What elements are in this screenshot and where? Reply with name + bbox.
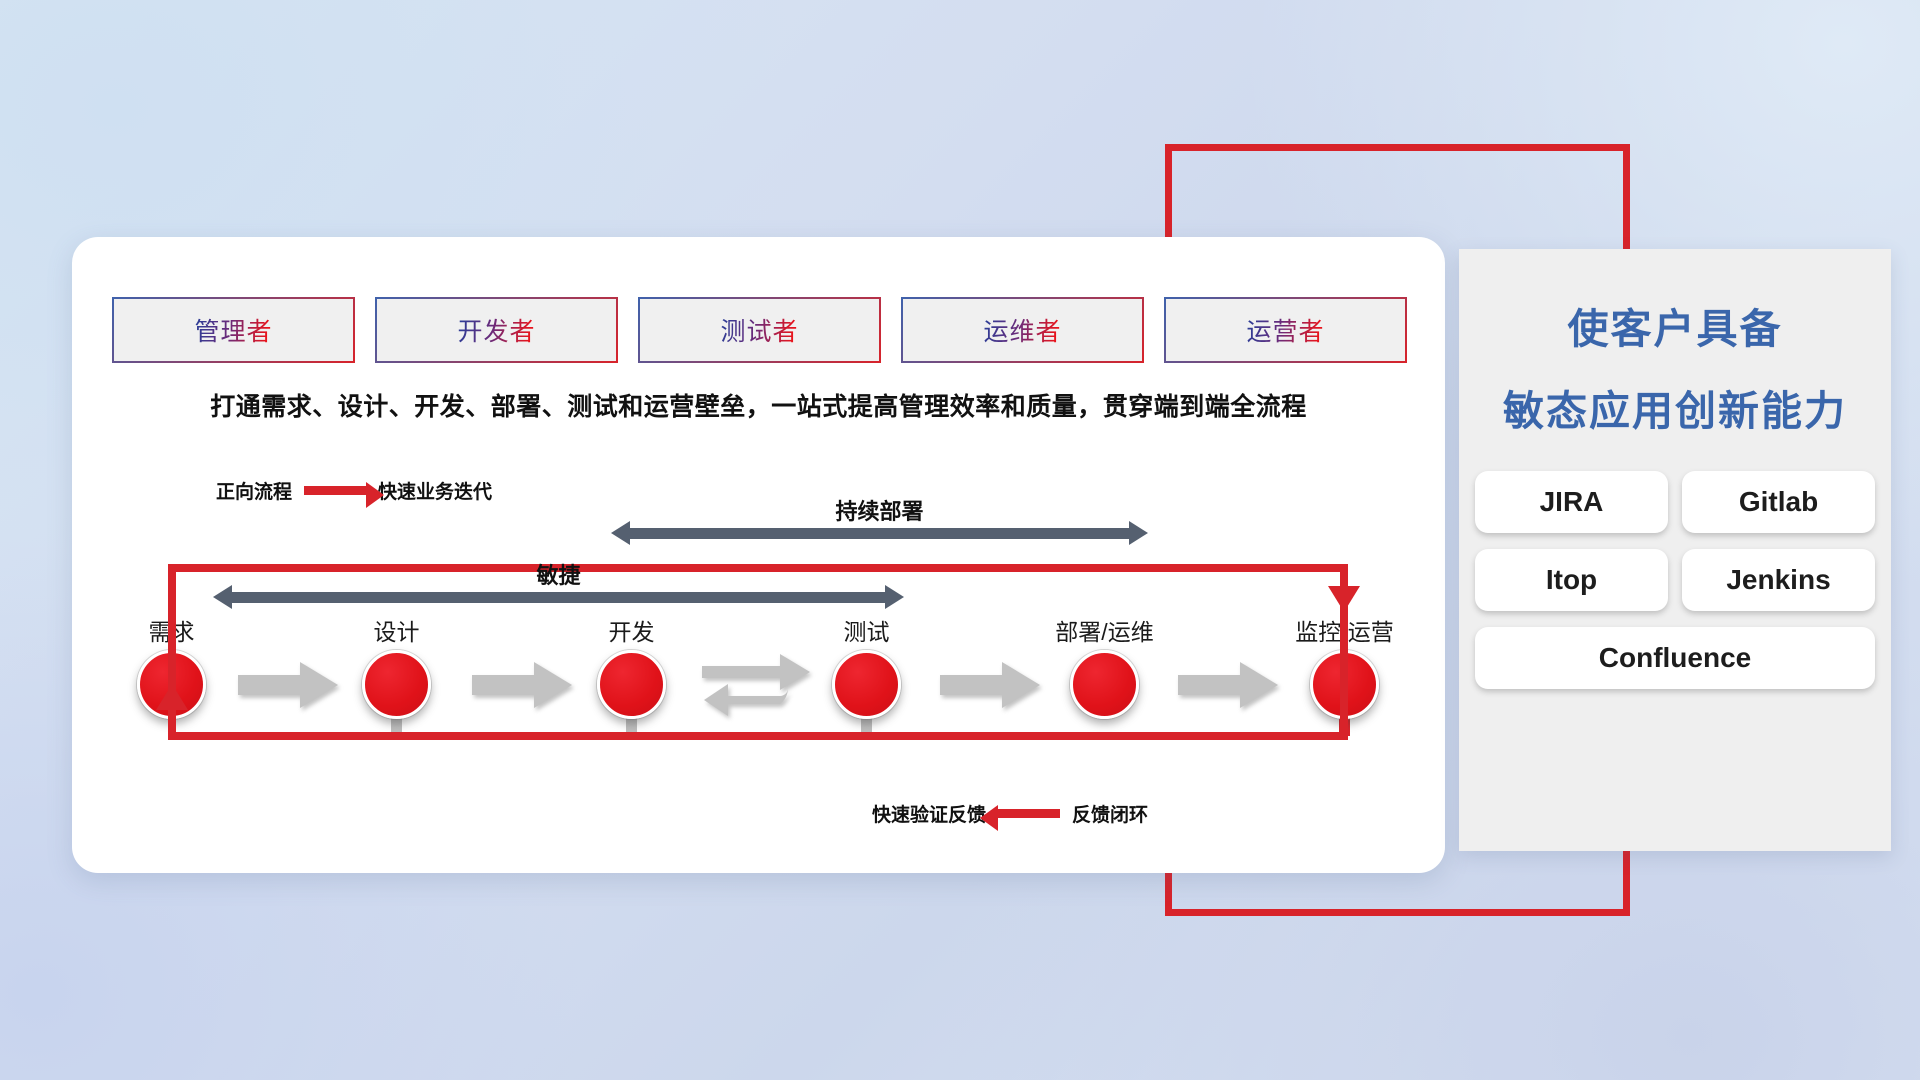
role-label: 测试者 bbox=[720, 312, 798, 348]
slide-canvas: 管理者 开发者 测试者 运维者 运营者 bbox=[0, 0, 1920, 1080]
node-dot bbox=[1070, 650, 1139, 719]
node-label: 部署/运维 bbox=[1055, 613, 1153, 647]
role-box-operations[interactable]: 运维者 bbox=[901, 297, 1144, 363]
legend-forward-flow: 正向流程 快速业务迭代 bbox=[216, 477, 492, 504]
capability-panel: 使客户具备 敏态应用创新能力 JIRA Gitlab Itop Jenkins … bbox=[1459, 249, 1891, 851]
role-box-inner: 运维者 bbox=[903, 299, 1143, 362]
card-subtitle: 打通需求、设计、开发、部署、测试和运营壁垒，一站式提高管理效率和质量，贯穿端到端… bbox=[72, 387, 1445, 423]
pipeline-node-design[interactable]: 设计 bbox=[362, 650, 431, 719]
flow-arrow-deploy-monitor-icon bbox=[1178, 662, 1278, 708]
role-box-inner: 管理者 bbox=[114, 299, 354, 362]
role-label: 运营者 bbox=[1246, 312, 1324, 348]
tool-chip-itop[interactable]: Itop bbox=[1475, 549, 1668, 611]
node-label: 开发 bbox=[609, 613, 655, 647]
loop-bottom-line bbox=[168, 732, 1348, 740]
pipeline-node-test[interactable]: 测试 bbox=[832, 650, 901, 719]
node-dot bbox=[597, 650, 666, 719]
span-line bbox=[232, 592, 885, 603]
legend-forward-to-label: 快速业务迭代 bbox=[378, 477, 492, 504]
panel-heading-line1: 使客户具备 bbox=[1459, 295, 1891, 355]
tool-chip-confluence[interactable]: Confluence bbox=[1475, 627, 1875, 689]
loop-arrow-down-icon bbox=[1328, 586, 1360, 612]
role-label: 管理者 bbox=[194, 312, 272, 348]
connector-frame-top bbox=[1165, 144, 1630, 151]
role-label: 运维者 bbox=[983, 312, 1061, 348]
legend-feedback-to-label: 快速验证反馈 bbox=[872, 800, 986, 827]
pipeline-node-deploy-ops[interactable]: 部署/运维 bbox=[1070, 650, 1139, 719]
role-box-business-ops[interactable]: 运营者 bbox=[1164, 297, 1407, 363]
legend-feedback-loop: 快速验证反馈 反馈闭环 bbox=[872, 800, 1148, 827]
pipeline-node-develop[interactable]: 开发 bbox=[597, 650, 666, 719]
tool-chip-list: JIRA Gitlab Itop Jenkins Confluence bbox=[1475, 471, 1875, 689]
role-box-tester[interactable]: 测试者 bbox=[638, 297, 881, 363]
node-dot bbox=[362, 650, 431, 719]
panel-heading-line2: 敏态应用创新能力 bbox=[1459, 377, 1891, 437]
node-dot bbox=[832, 650, 901, 719]
role-box-inner: 测试者 bbox=[640, 299, 880, 362]
role-box-row: 管理者 开发者 测试者 运维者 运营者 bbox=[112, 297, 1407, 363]
tool-chip-jira[interactable]: JIRA bbox=[1475, 471, 1668, 533]
role-box-developer[interactable]: 开发者 bbox=[375, 297, 618, 363]
flow-arrow-test-deploy-icon bbox=[940, 662, 1040, 708]
role-box-inner: 运营者 bbox=[1166, 299, 1406, 362]
span-line bbox=[630, 528, 1129, 539]
flow-loop-develop-test-icon bbox=[702, 652, 812, 720]
arrow-right-icon bbox=[304, 486, 366, 495]
loop-left-line bbox=[168, 564, 176, 740]
connector-frame-bottom bbox=[1165, 909, 1630, 916]
flow-arrow-design-develop-icon bbox=[472, 662, 572, 708]
span-continuous-deployment: 持续部署 bbox=[611, 528, 1148, 539]
role-label: 开发者 bbox=[457, 312, 535, 348]
node-label: 设计 bbox=[374, 613, 420, 647]
legend-feedback-from-label: 反馈闭环 bbox=[1072, 800, 1148, 827]
span-label: 敏捷 bbox=[213, 558, 904, 590]
role-box-inner: 开发者 bbox=[377, 299, 617, 362]
main-card: 管理者 开发者 测试者 运维者 运营者 bbox=[72, 237, 1445, 873]
role-box-manager[interactable]: 管理者 bbox=[112, 297, 355, 363]
loop-arrow-up-icon bbox=[156, 684, 188, 710]
tool-chip-gitlab[interactable]: Gitlab bbox=[1682, 471, 1875, 533]
span-label: 持续部署 bbox=[611, 494, 1148, 526]
legend-forward-from-label: 正向流程 bbox=[216, 477, 292, 504]
arrow-left-icon bbox=[998, 809, 1060, 818]
flow-arrow-requirement-design-icon bbox=[238, 662, 338, 708]
node-label: 测试 bbox=[844, 613, 890, 647]
span-agile: 敏捷 bbox=[213, 592, 904, 603]
tool-chip-jenkins[interactable]: Jenkins bbox=[1682, 549, 1875, 611]
